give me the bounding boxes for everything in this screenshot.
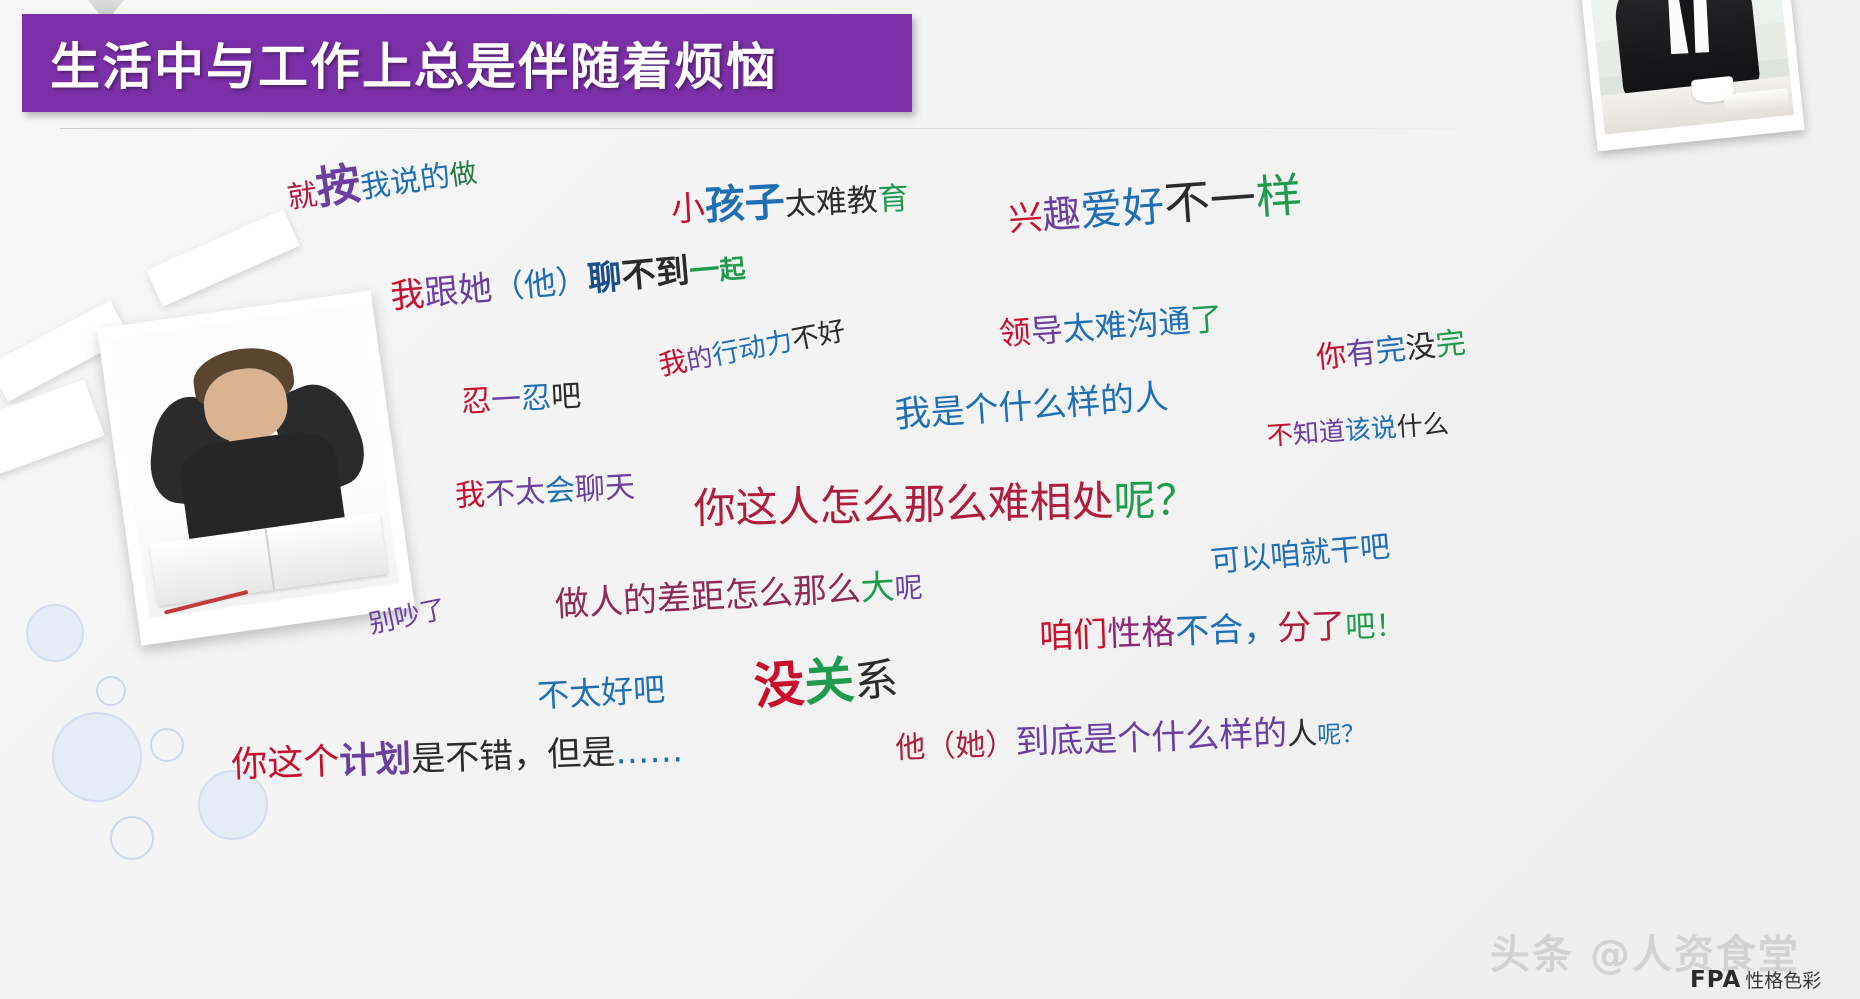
cloud-phrase-segment: 不太好吧 [536, 670, 666, 715]
cloud-phrase-segment: 样 [1254, 168, 1304, 225]
cloud-phrase-segment: 呢？ [1317, 720, 1366, 750]
cloud-phrase-segment: 完 [1374, 332, 1407, 370]
cloud-phrase-segment: 爱好 [1079, 181, 1166, 236]
cloud-phrase: 忍一忍吧 [460, 382, 581, 418]
cloud-phrase-segment: 你 [1315, 338, 1348, 376]
cloud-phrase-segment: 没 [1404, 329, 1437, 367]
cloud-phrase-segment: 是不错，但是 [411, 733, 616, 780]
cloud-phrase-segment: 性格 [1107, 612, 1176, 654]
cloud-phrase-segment: 不好 [789, 315, 848, 356]
cloud-phrase-segment: 忍 [460, 383, 492, 420]
cloud-phrase-segment: 孩子 [704, 179, 786, 229]
cloud-phrase: 我的行动力不好 [657, 316, 848, 380]
cloud-phrase-segment: 到底是个什么样的 [1015, 713, 1288, 762]
cloud-phrase-segment: 太难沟通 [1061, 302, 1191, 349]
cloud-phrase-segment: 你这人怎么那么难相处 [693, 477, 1114, 533]
cloud-phrase-segment: 做 [448, 158, 479, 192]
cloud-phrase-segment: 小 [670, 188, 706, 230]
cloud-phrase-segment: 可以咱就干吧 [1209, 529, 1391, 580]
cloud-phrase-segment: 系 [852, 654, 899, 708]
cloud-phrase-segment: …… [614, 730, 683, 772]
cloud-phrase: 你这人怎么那么难相处呢？ [693, 479, 1198, 530]
cloud-phrase-segment: 兴 [1007, 198, 1044, 240]
cloud-phrase: 你有完没完 [1315, 328, 1467, 374]
cloud-phrase: 不太好吧 [536, 673, 666, 712]
cloud-phrase: 领导太难沟通了 [998, 302, 1224, 350]
cloud-phrase: 我跟她（他）聊不到一起 [389, 249, 747, 314]
cloud-phrase: 你这个计划是不错，但是…… [231, 732, 684, 784]
cloud-phrase: 别吵了 [367, 596, 449, 638]
cloud-phrase-segment: 完 [1434, 326, 1467, 364]
cloud-phrase-segment: 呢？ [1113, 475, 1198, 525]
cloud-phrase-segment: 按 [313, 158, 364, 215]
cloud-phrase-segment: 一 [688, 252, 721, 289]
cloud-phrase-segment: 是个什么样的 [929, 379, 1135, 433]
cloud-phrase: 做人的差距怎么那么大呢 [554, 569, 923, 622]
cloud-phrase: 我不太会聊天 [454, 473, 635, 512]
fpa-watermark: FPA性格色彩 [1690, 966, 1821, 993]
fpa-brand-label: FPA [1690, 967, 1741, 993]
cloud-phrase-segment: 起 [718, 254, 747, 286]
cloud-phrase-segment: 不到 [620, 251, 691, 297]
cloud-phrase-segment: （他） [490, 261, 589, 307]
cloud-phrase: 可以咱就干吧 [1209, 532, 1391, 578]
complaint-word-cloud: 就按我说的做小孩子太难教育兴趣爱好不一样我跟她（他）聊不到一起领导太难沟通了你有… [0, 0, 1860, 999]
cloud-phrase-segment: 吧！ [1345, 608, 1406, 645]
cloud-phrase-segment: 我说的 [358, 159, 452, 206]
cloud-phrase: 小孩子太难教育 [670, 176, 910, 228]
cloud-phrase-segment: 了 [1189, 299, 1224, 339]
cloud-phrase-segment: 人 [1287, 716, 1318, 752]
cloud-phrase-segment: 大 [860, 567, 896, 609]
cloud-phrase: 就按我说的做 [284, 146, 479, 216]
cloud-phrase-segment: 有 [1344, 335, 1377, 373]
cloud-phrase-segment: 你这个 [231, 741, 340, 786]
cloud-phrase-segment: 我 [389, 274, 426, 317]
cloud-phrase-segment: 领 [998, 313, 1033, 353]
cloud-phrase-segment: 人 [1133, 377, 1170, 419]
cloud-phrase-segment: 他（她） [895, 727, 1016, 766]
cloud-phrase-segment: 该说 [1344, 413, 1398, 447]
cloud-phrase-segment: 咱们 [1039, 615, 1108, 657]
cloud-phrase-segment: 呢 [894, 571, 924, 605]
cloud-phrase-segment: 聊 [586, 257, 623, 300]
cloud-phrase-segment: 趣 [1041, 191, 1082, 238]
cloud-phrase-segment: 没 [752, 655, 806, 716]
cloud-phrase-segment: 就 [285, 177, 320, 216]
cloud-phrase-segment: 不一 [1162, 171, 1258, 231]
cloud-phrase-segment: 关 [802, 651, 856, 712]
cloud-phrase-segment: 知道 [1292, 417, 1346, 451]
cloud-phrase-segment: 不太 [484, 474, 546, 512]
cloud-phrase-segment: 我 [454, 477, 486, 514]
cloud-phrase-segment: 我 [893, 393, 932, 436]
cloud-phrase-segment: 吧 [550, 379, 582, 416]
cloud-phrase: 不知道该说什么 [1266, 411, 1449, 450]
cloud-phrase: 他（她）到底是个什么样的人呢？ [895, 714, 1366, 764]
cloud-phrase: 我是个什么样的人 [893, 379, 1169, 434]
cloud-phrase-segment: 导 [1029, 311, 1064, 351]
cloud-phrase-segment: 做人的差距怎么那么 [554, 569, 862, 625]
cloud-phrase-segment: 别吵了 [366, 594, 449, 640]
cloud-phrase-segment: 太难教 [784, 182, 879, 223]
cloud-phrase-segment: 聊天 [574, 470, 636, 508]
fpa-cn-label: 性格色彩 [1745, 970, 1821, 992]
slide-canvas: 生活中与工作上总是伴随着烦恼 就按我说的做小孩子太难教育兴趣爱好不一样我跟她（他… [0, 0, 1860, 999]
cloud-phrase-segment: 什么 [1396, 409, 1450, 443]
cloud-phrase-segment: 忍 [520, 380, 552, 417]
cloud-phrase: 兴趣爱好不一样 [1007, 172, 1304, 238]
cloud-phrase-segment: 行动力 [710, 326, 795, 372]
cloud-phrase-segment: 育 [877, 181, 910, 219]
cloud-phrase-segment: 不合， [1175, 609, 1278, 653]
cloud-phrase: 没关系 [753, 652, 900, 712]
cloud-phrase-segment: 不 [1266, 420, 1294, 452]
cloud-phrase-segment: 计划 [339, 739, 412, 782]
cloud-phrase-segment: 一 [490, 382, 522, 419]
cloud-phrase-segment: 会 [544, 473, 576, 510]
cloud-phrase: 咱们性格不合，分了吧！ [1039, 607, 1406, 654]
cloud-phrase-segment: 跟她 [423, 268, 494, 314]
cloud-phrase-segment: 分了 [1277, 606, 1346, 648]
